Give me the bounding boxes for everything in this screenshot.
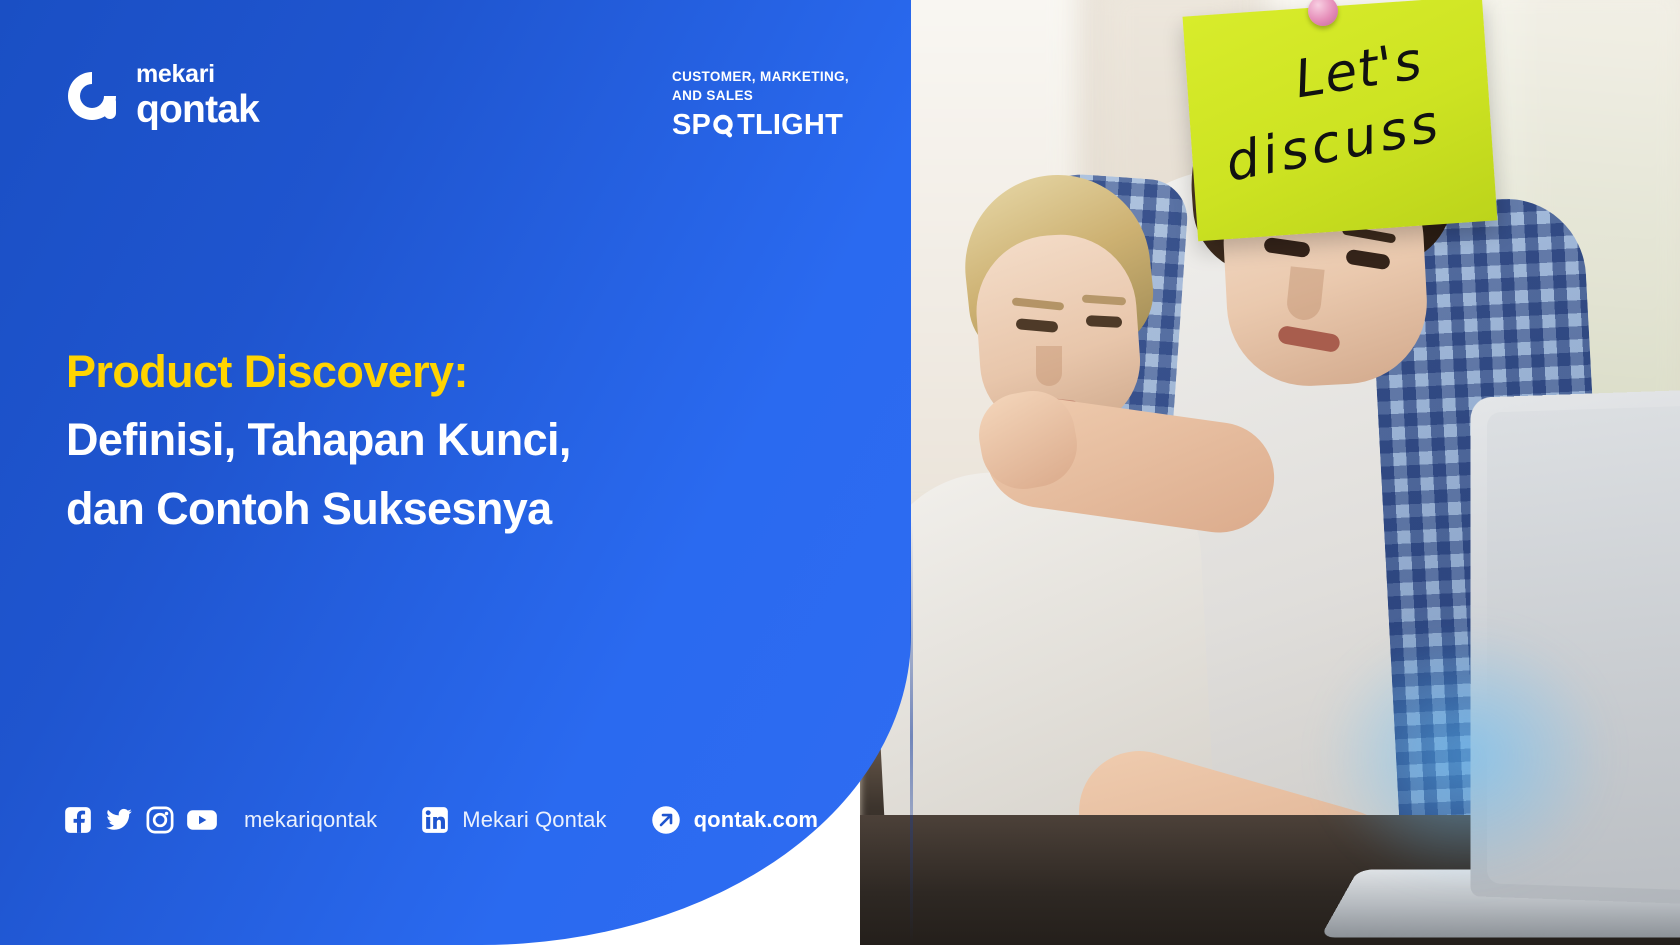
spotlight-word-before: SP: [672, 109, 711, 142]
website-label: qontak.com: [694, 807, 818, 833]
headline-line-3: dan Contoh Suksesnya: [66, 475, 806, 543]
magnifier-o-icon: [712, 114, 736, 138]
headline-line-2: Definisi, Tahapan Kunci,: [66, 406, 806, 474]
footer-bar: mekariqontak Mekari Qontak qontak.co: [64, 805, 818, 835]
spotlight-wordmark: SP TLIGHT: [672, 109, 849, 142]
twitter-icon[interactable]: [104, 806, 134, 834]
arrow-up-right-circle-icon: [651, 805, 681, 835]
sticky-note: Let's discuss: [1183, 0, 1498, 241]
facebook-icon[interactable]: [64, 806, 92, 834]
spotlight-word-after: TLIGHT: [737, 109, 843, 142]
brand-logo-top-word: mekari: [136, 62, 259, 87]
brand-logo[interactable]: mekari qontak: [66, 62, 259, 129]
headline-line-1: Product Discovery:: [66, 338, 806, 406]
spotlight-kicker-line-1: CUSTOMER, MARKETING,: [672, 68, 849, 87]
linkedin-label: Mekari Qontak: [462, 807, 606, 833]
social-handle-label: mekariqontak: [244, 807, 377, 833]
linkedin-link[interactable]: Mekari Qontak: [421, 806, 606, 834]
hero-photo: Let's discuss: [860, 0, 1680, 945]
website-link[interactable]: qontak.com: [651, 805, 818, 835]
sticky-note-text: Let's discuss: [1183, 0, 1498, 241]
linkedin-icon: [421, 806, 449, 834]
youtube-icon[interactable]: [186, 806, 218, 834]
person-blond-eye-right: [1086, 315, 1123, 328]
social-links: mekariqontak: [64, 806, 377, 834]
spotlight-kicker-line-2: AND SALES: [672, 87, 849, 106]
brand-logo-bottom-word: qontak: [136, 90, 259, 129]
qontak-q-mark-icon: [66, 70, 118, 122]
screen-glow: [1320, 625, 1610, 885]
banner-canvas: Let's discuss mekari qontak CUSTOMER, MA…: [0, 0, 1680, 945]
blue-panel: mekari qontak CUSTOMER, MARKETING, AND S…: [0, 0, 911, 945]
page-title: Product Discovery: Definisi, Tahapan Kun…: [66, 338, 806, 543]
brand-logo-wordmark: mekari qontak: [136, 62, 259, 129]
person-blond-nose: [1036, 346, 1062, 386]
instagram-icon[interactable]: [146, 806, 174, 834]
spotlight-badge: CUSTOMER, MARKETING, AND SALES SP TLIGHT: [672, 68, 849, 142]
spotlight-kicker: CUSTOMER, MARKETING, AND SALES: [672, 68, 849, 105]
